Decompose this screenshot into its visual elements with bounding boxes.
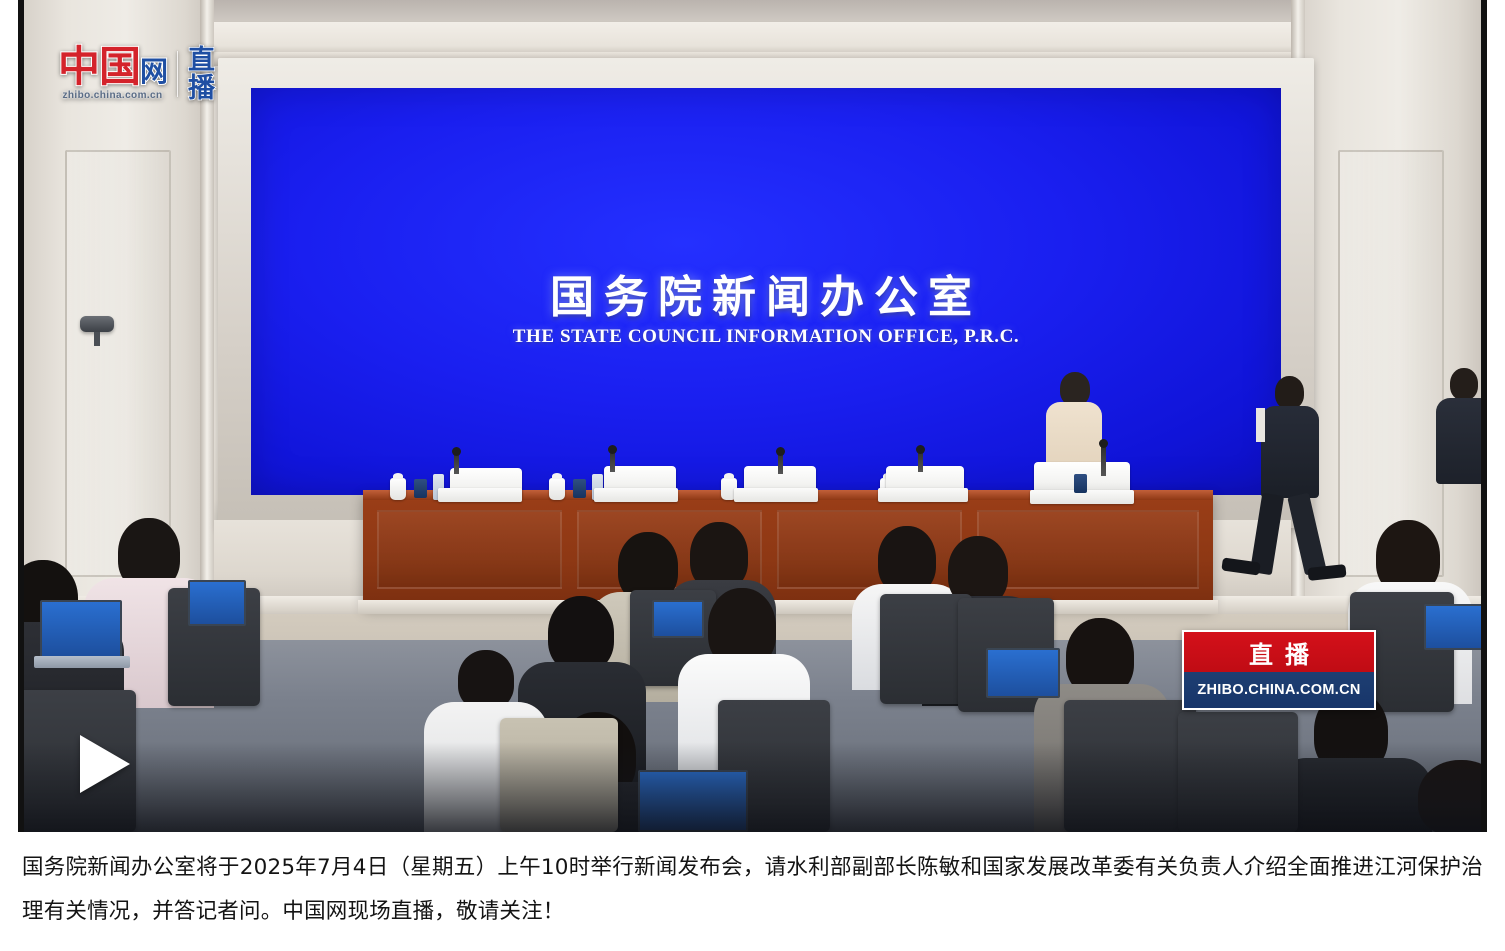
laptop-left-1 xyxy=(188,580,246,626)
wall-camera-icon xyxy=(80,316,114,332)
live-badge: 直播 ZHIBO.CHINA.COM.CN xyxy=(1182,630,1376,710)
video-left-edge xyxy=(18,0,24,832)
audience-chair-right-5 xyxy=(1178,712,1298,832)
live-vertical-label: 直播 xyxy=(188,46,215,103)
china-net-logo: 中国网 zhibo.china.com.cn xyxy=(58,47,167,101)
laptop-front-center xyxy=(638,770,748,832)
laptop-base-left-2 xyxy=(34,656,130,668)
screen-text-block: 国务院新闻办公室 THE STATE COUNCIL INFORMATION O… xyxy=(251,274,1281,348)
laptop-mid-1 xyxy=(652,600,704,638)
live-badge-domain: ZHIBO.CHINA.COM.CN xyxy=(1197,682,1360,698)
audience-chair-right-3 xyxy=(1064,700,1196,832)
laptop-right-3 xyxy=(986,648,1060,698)
led-video-wall: 国务院新闻办公室 THE STATE COUNCIL INFORMATION O… xyxy=(251,88,1281,495)
logo-divider xyxy=(177,51,178,97)
channel-logo-bug: 中国网 zhibo.china.com.cn 直播 xyxy=(58,46,215,103)
laptop-left-2 xyxy=(40,600,122,658)
page-root: 国务院新闻办公室 THE STATE COUNCIL INFORMATION O… xyxy=(0,0,1505,951)
screen-title-english: THE STATE COUNCIL INFORMATION OFFICE, P.… xyxy=(251,326,1281,348)
pilaster-inset-right xyxy=(1338,150,1444,577)
screen-title-chinese: 国务院新闻办公室 xyxy=(251,274,1281,322)
play-button[interactable] xyxy=(80,735,130,793)
logo-text-chinese: 中国网 xyxy=(58,47,167,89)
audience-chair-front-left xyxy=(500,718,618,832)
logo-url: zhibo.china.com.cn xyxy=(58,90,167,101)
caption-area: 国务院新闻办公室将于2025年7月4日（星期五）上午10时举行新闻发布会，请水利… xyxy=(0,832,1505,951)
caption-text: 国务院新闻办公室将于2025年7月4日（星期五）上午10时举行新闻发布会，请水利… xyxy=(22,846,1483,934)
ceiling-light-panel xyxy=(208,22,1328,56)
video-player[interactable]: 国务院新闻办公室 THE STATE COUNCIL INFORMATION O… xyxy=(18,0,1487,832)
live-badge-domain-bar: ZHIBO.CHINA.COM.CN xyxy=(1182,672,1376,710)
live-badge-red: 直播 xyxy=(1182,630,1376,672)
laptop-right-4 xyxy=(1424,604,1486,650)
video-right-edge xyxy=(1481,0,1487,832)
pilaster-inset-left xyxy=(65,150,171,577)
logo-text-net: 网 xyxy=(140,57,167,88)
podium-base-trim xyxy=(358,600,1218,614)
speakers-podium-desk xyxy=(363,490,1213,605)
wall-camera-mount xyxy=(94,332,100,346)
live-badge-label: 直播 xyxy=(1237,635,1321,670)
